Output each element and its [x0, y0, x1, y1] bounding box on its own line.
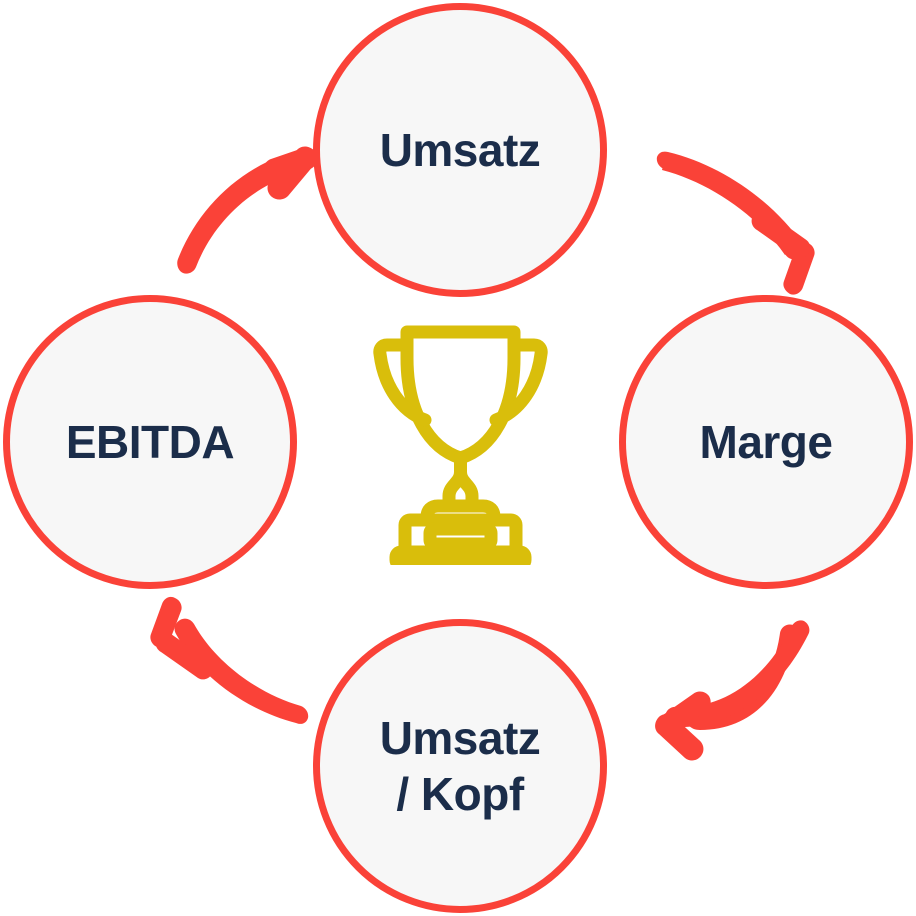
arrow-umsatz-to-marge — [657, 152, 815, 295]
arrow-marge-to-kopf — [655, 620, 809, 760]
arrow-ebitda-to-umsatz — [177, 147, 317, 274]
node-ebitda[interactable]: EBITDA — [3, 295, 297, 589]
node-umsatz-label: Umsatz — [366, 122, 555, 178]
cycle-diagram: Umsatz Marge Umsatz / Kopf EBITDA — [0, 0, 916, 916]
node-umsatz[interactable]: Umsatz — [313, 3, 607, 297]
trophy-icon — [373, 320, 548, 565]
node-marge-label: Marge — [686, 414, 847, 470]
node-ebitda-label: EBITDA — [52, 414, 248, 470]
arrow-kopf-to-ebitda — [150, 597, 308, 724]
node-umsatz-pro-kopf-label: Umsatz / Kopf — [366, 710, 555, 822]
node-umsatz-pro-kopf[interactable]: Umsatz / Kopf — [313, 619, 607, 913]
node-marge[interactable]: Marge — [619, 295, 913, 589]
